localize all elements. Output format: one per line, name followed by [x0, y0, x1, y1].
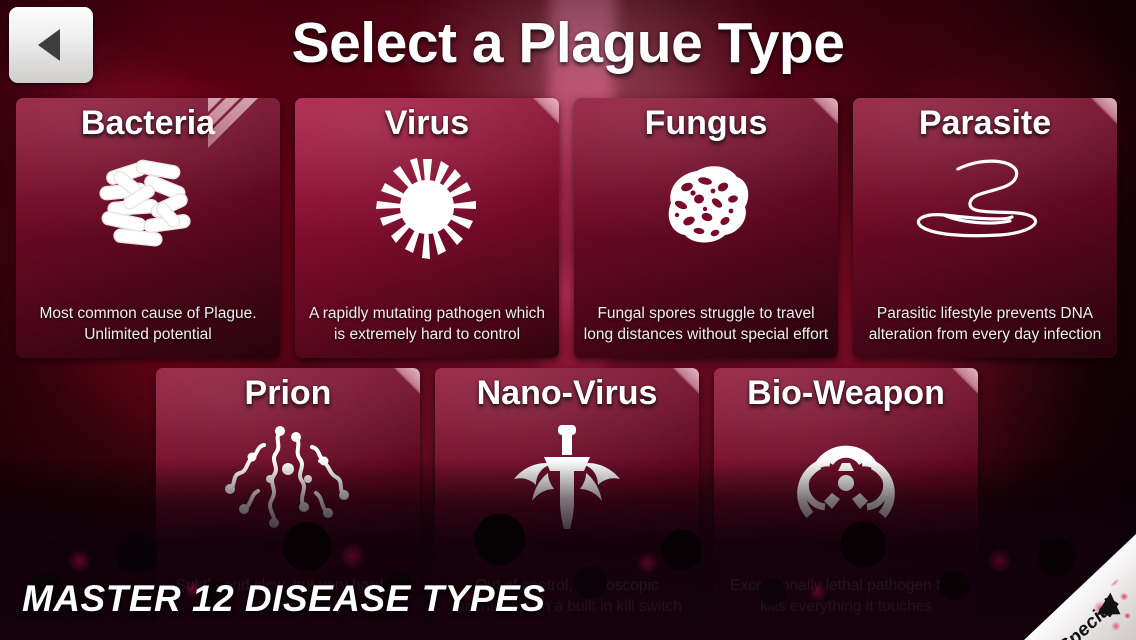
plague-card-title: Bio-Weapon — [747, 374, 945, 413]
plague-card-prion[interactable]: Prion — [156, 368, 420, 630]
plague-card-description: Exceptionally lethal pathogen that kills… — [722, 575, 970, 618]
virus-spiky-sphere-icon — [368, 151, 486, 263]
plague-type-select-screen: Select a Plague Type Bacteria — [0, 0, 1136, 640]
plague-card-description: Out of control, microscopic machines wit… — [443, 575, 691, 618]
plague-card-description: Subtle and slow, but very hard to detect — [164, 575, 412, 618]
plague-card-bacteria[interactable]: Bacteria — [16, 98, 280, 358]
nanovirus-machine-icon — [504, 421, 630, 533]
plague-card-description: Most common cause of Plague. Unlimited p… — [24, 303, 272, 346]
plague-card-bio-weapon[interactable]: Bio-Weapon — [714, 368, 978, 630]
plague-card-description: Parasitic lifestyle prevents DNA alterat… — [861, 303, 1109, 346]
biohazard-icon — [786, 421, 906, 533]
bacteria-rods-icon — [88, 151, 208, 261]
fungus-cluster-icon — [647, 151, 765, 259]
plague-card-virus[interactable]: Virus — [295, 98, 559, 358]
plague-card-nano-virus[interactable]: Nano-Virus Out of co — [435, 368, 699, 630]
plague-card-title: Nano-Virus — [477, 374, 658, 413]
plague-card-title: Fungus — [645, 104, 768, 143]
triangle-left-icon — [38, 29, 60, 61]
plague-card-parasite[interactable]: Parasite Parasitic lifestyle prevents DN… — [853, 98, 1117, 358]
parasite-worm-icon — [900, 151, 1070, 251]
plague-card-title: Prion — [245, 374, 332, 413]
plague-card-description: A rapidly mutating pathogen which is ext… — [303, 303, 551, 346]
special-corner-button[interactable]: Special — [1024, 534, 1136, 640]
plague-card-fungus[interactable]: Fungus — [574, 98, 838, 358]
plague-card-title: Virus — [385, 104, 469, 143]
plague-card-description: Fungal spores struggle to travel long di… — [582, 303, 830, 346]
plague-card-title: Parasite — [919, 104, 1051, 143]
prion-protein-icon — [224, 421, 352, 533]
back-button[interactable] — [9, 7, 93, 83]
plague-card-title: Bacteria — [81, 104, 215, 143]
